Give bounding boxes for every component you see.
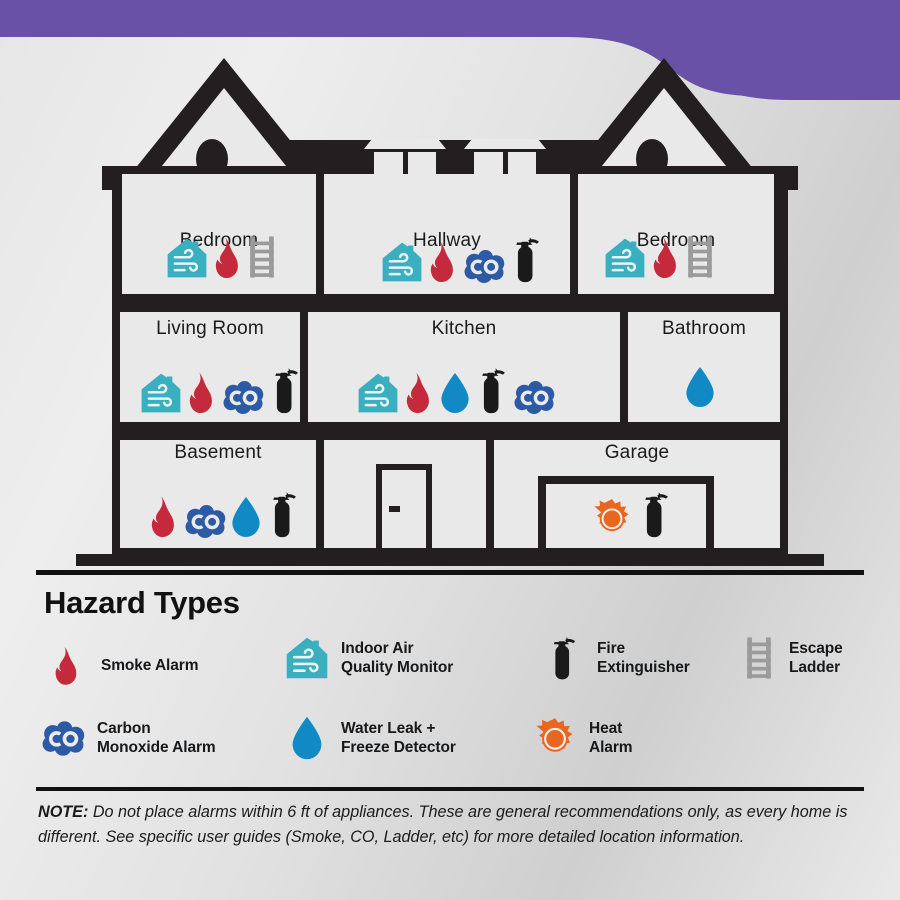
- fire-extinguisher-icon: [266, 490, 300, 539]
- legend-line-2: Monoxide Alarm: [97, 739, 216, 756]
- legend-label: Heat Alarm: [589, 719, 632, 757]
- legend-line-2: Ladder: [789, 659, 840, 676]
- carbon-monoxide-alarm-icon: [513, 381, 555, 414]
- legend-label: Indoor Air Quality Monitor: [341, 639, 453, 677]
- carbon-monoxide-alarm-icon: [40, 712, 86, 764]
- legend-line-1: Smoke Alarm: [101, 657, 198, 674]
- legend-item-fire-extinguisher[interactable]: Fire Extinguisher: [540, 632, 690, 684]
- room-label-bathroom: Bathroom: [628, 318, 780, 340]
- legend-item-heat-alarm[interactable]: Heat Alarm: [532, 712, 632, 764]
- fire-extinguisher-icon: [638, 490, 672, 539]
- smoke-alarm-icon: [44, 640, 90, 692]
- hazard-row-bedroom-right: [604, 235, 714, 279]
- ground-line: [76, 554, 824, 566]
- heat-alarm-icon: [532, 712, 578, 764]
- heat-alarm-icon: [592, 498, 632, 538]
- hazard-types-legend: Hazard Types Smoke Alarm Indoor Air Qual…: [0, 570, 900, 785]
- hazard-row-basement: [148, 490, 300, 538]
- legend-line-1: Water Leak +: [341, 720, 435, 737]
- water-leak-freeze-detector-icon: [684, 366, 716, 408]
- smoke-alarm-icon: [186, 372, 218, 414]
- legend-label: Fire Extinguisher: [597, 639, 690, 677]
- smoke-alarm-icon: [403, 372, 435, 414]
- legend-top-rule: [36, 570, 864, 575]
- carbon-monoxide-alarm-icon: [463, 250, 505, 283]
- fire-extinguisher-icon: [509, 235, 543, 284]
- legend-line-2: Extinguisher: [597, 659, 690, 676]
- smoke-alarm-icon: [212, 237, 244, 279]
- indoor-air-quality-monitor-icon: [166, 237, 208, 279]
- smoke-alarm-icon: [148, 496, 180, 538]
- note-prefix: NOTE:: [38, 803, 88, 821]
- legend-label: Carbon Monoxide Alarm: [97, 719, 216, 757]
- legend-item-escape-ladder[interactable]: Escape Ladder: [740, 632, 843, 684]
- legend-line-1: Fire: [597, 640, 625, 657]
- dormer-window-right: [464, 139, 546, 176]
- legend-item-smoke-alarm[interactable]: Smoke Alarm: [44, 640, 198, 692]
- indoor-air-quality-monitor-icon: [381, 241, 423, 283]
- water-leak-freeze-detector-icon: [439, 372, 471, 414]
- legend-line-2: Alarm: [589, 739, 632, 756]
- indoor-air-quality-monitor-icon: [357, 372, 399, 414]
- room-label-basement: Basement: [120, 442, 316, 464]
- floor-divider-1: [112, 294, 788, 308]
- room-label-kitchen: Kitchen: [308, 318, 620, 340]
- legend-line-1: Carbon: [97, 720, 151, 737]
- legend-label: Smoke Alarm: [101, 656, 198, 675]
- legend-line-1: Indoor Air: [341, 640, 413, 657]
- hazard-row-bathroom: [684, 366, 716, 408]
- door-handle-icon: [389, 506, 400, 512]
- fire-extinguisher-icon: [268, 366, 302, 415]
- room-label-garage: Garage: [494, 442, 780, 464]
- indoor-air-quality-monitor-icon: [140, 372, 182, 414]
- carbon-monoxide-alarm-icon: [184, 505, 226, 538]
- legend-title: Hazard Types: [44, 585, 240, 621]
- escape-ladder-icon: [740, 632, 778, 684]
- fire-extinguisher-icon: [475, 366, 509, 415]
- note-body: Do not place alarms within 6 ft of appli…: [38, 803, 847, 846]
- legend-line-1: Heat: [589, 720, 622, 737]
- smoke-alarm-icon: [427, 241, 459, 283]
- legend-line-2: Quality Monitor: [341, 659, 453, 676]
- house-roof: [102, 58, 798, 190]
- indoor-air-quality-monitor-icon: [284, 632, 330, 684]
- note-text: NOTE: Do not place alarms within 6 ft of…: [38, 800, 868, 849]
- fire-extinguisher-icon: [540, 632, 586, 684]
- hazard-row-kitchen: [357, 366, 555, 414]
- house-cutaway-diagram: [0, 40, 900, 570]
- hazard-row-garage: [592, 490, 672, 538]
- note-top-rule: [36, 787, 864, 791]
- entry-door: [376, 464, 432, 548]
- dormer-window-left: [364, 139, 446, 176]
- carbon-monoxide-alarm-icon: [222, 381, 264, 414]
- legend-item-indoor-air-quality-monitor[interactable]: Indoor Air Quality Monitor: [284, 632, 453, 684]
- hazard-row-living-room: [140, 366, 302, 414]
- legend-label: Water Leak + Freeze Detector: [341, 719, 456, 757]
- escape-ladder-icon: [248, 235, 276, 279]
- water-leak-freeze-detector-icon: [230, 496, 262, 538]
- infographic-page: Bedroom Hallway Bedroom Living Room Kitc…: [0, 0, 900, 900]
- legend-label: Escape Ladder: [789, 639, 843, 677]
- hazard-row-bedroom-left: [166, 235, 276, 279]
- hazard-row-hallway: [381, 235, 543, 283]
- legend-line-1: Escape: [789, 640, 843, 657]
- room-label-living-room: Living Room: [120, 318, 300, 340]
- legend-line-2: Freeze Detector: [341, 739, 456, 756]
- water-leak-freeze-detector-icon: [284, 712, 330, 764]
- legend-item-carbon-monoxide-alarm[interactable]: Carbon Monoxide Alarm: [40, 712, 216, 764]
- indoor-air-quality-monitor-icon: [604, 237, 646, 279]
- escape-ladder-icon: [686, 235, 714, 279]
- smoke-alarm-icon: [650, 237, 682, 279]
- banner-top-band: [0, 0, 900, 37]
- legend-item-water-leak-freeze-detector[interactable]: Water Leak + Freeze Detector: [284, 712, 456, 764]
